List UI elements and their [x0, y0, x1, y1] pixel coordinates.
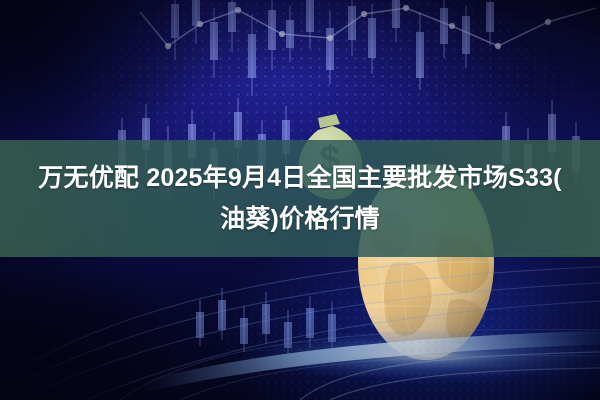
title-line-2: 油葵)价格行情	[220, 199, 380, 240]
banner-image: $ $	[0, 0, 600, 400]
title-band: 万无优配 2025年9月4日全国主要批发市场S33( 油葵)价格行情	[0, 140, 600, 257]
title-line-1: 万无优配 2025年9月4日全国主要批发市场S33(	[38, 158, 561, 199]
